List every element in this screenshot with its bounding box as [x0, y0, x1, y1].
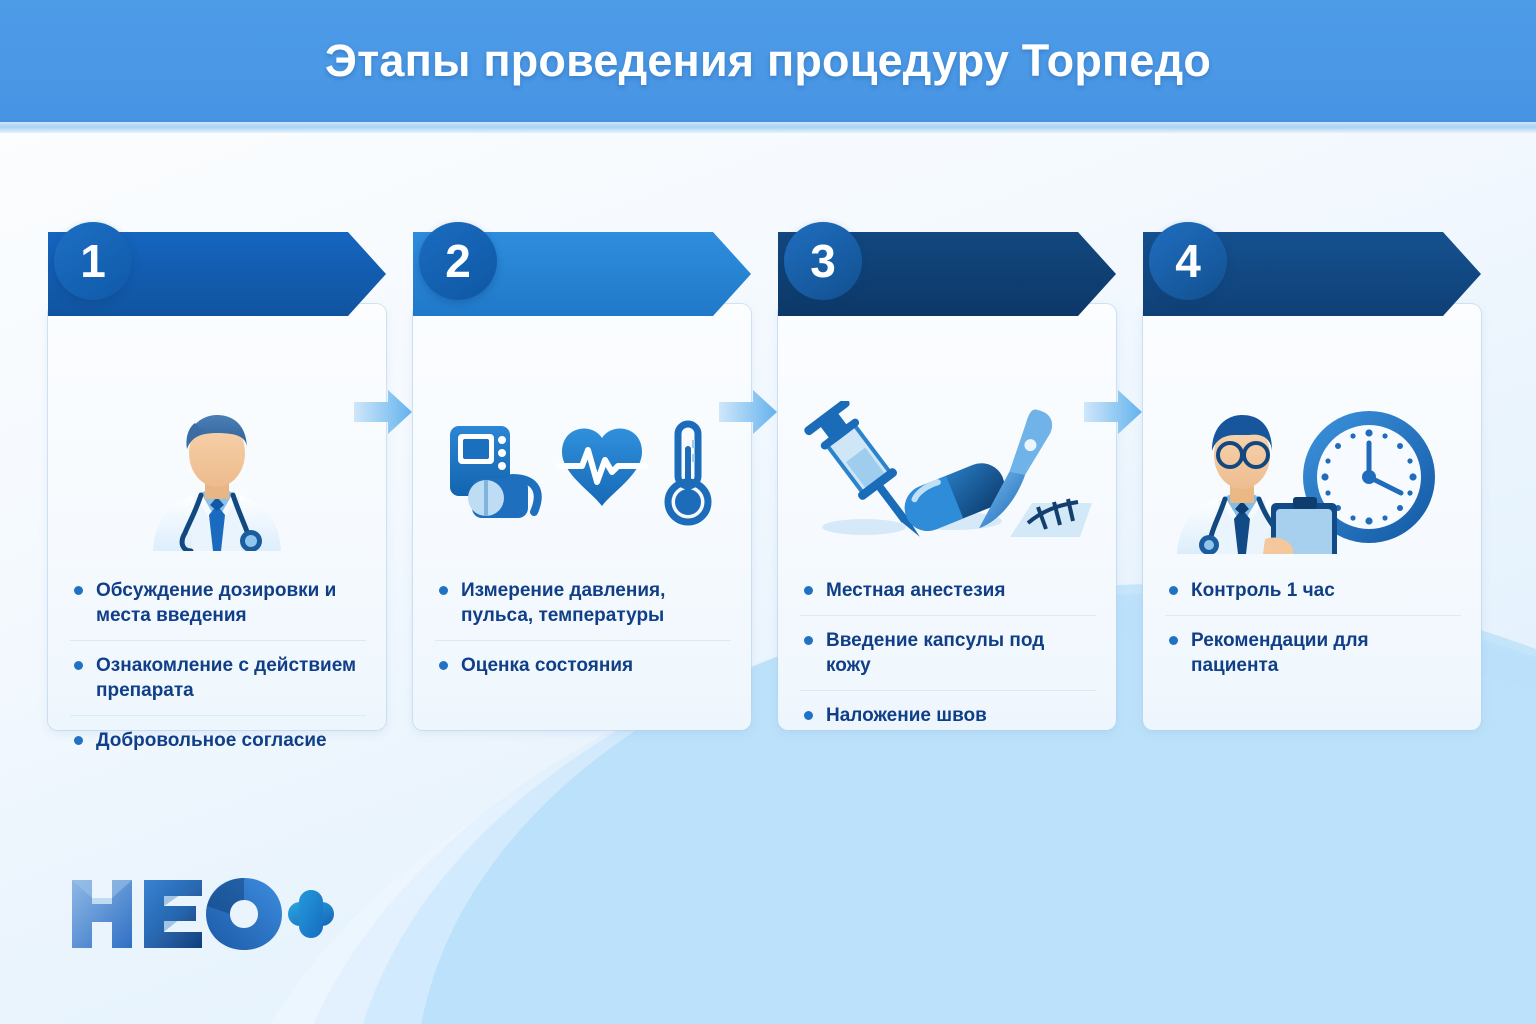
bullet-text: Местная анестезия: [826, 580, 1005, 601]
step-card-body: Местная анестезия Введение капсулы под к…: [778, 304, 1116, 730]
infographic-canvas: Этапы проведения процедуру Торпедо: [0, 0, 1536, 1024]
list-item: Контроль 1 час: [1165, 566, 1461, 615]
bullet-dot-icon: [74, 586, 83, 595]
step-bullet-list: Местная анестезия Введение капсулы под к…: [800, 566, 1096, 740]
step-number-badge: 4: [1149, 222, 1227, 300]
arrow-right-icon: [717, 386, 779, 438]
bullet-text: Наложение швов: [826, 705, 987, 726]
brand-logo[interactable]: [66, 868, 336, 956]
step-bullet-list: Обсуждение дозировки и места введения Оз…: [70, 566, 366, 765]
step-card-body: Измерение давления, пульса, температуры …: [413, 304, 751, 730]
list-item: Рекомендации для пациента: [1165, 615, 1461, 690]
page-header: Этапы проведения процедуру Торпедо: [0, 0, 1536, 122]
list-item: Измерение давления, пульса, температуры: [435, 566, 731, 640]
list-item: Обсуждение дозировки и места введения: [70, 566, 366, 640]
steps-row: Обсуждение дозировки и места введения Оз…: [0, 232, 1536, 752]
arrow-step1-to-step2: [352, 386, 414, 438]
syringe-capsule-scalpel-icon: [802, 401, 1092, 551]
step-number-badge: 2: [419, 222, 497, 300]
step-number-badge: 3: [784, 222, 862, 300]
bullet-dot-icon: [439, 586, 448, 595]
list-item: Оценка состояния: [435, 640, 731, 690]
step-bullet-list: Контроль 1 час Рекомендации для пациента: [1165, 566, 1461, 690]
step-icon-zone: [1143, 392, 1481, 560]
arrow-step2-to-step3: [717, 386, 779, 438]
bullet-text: Оценка состояния: [461, 655, 633, 676]
step-card-body: Контроль 1 час Рекомендации для пациента: [1143, 304, 1481, 730]
bullet-dot-icon: [1169, 586, 1178, 595]
doctor-stethoscope-icon: [117, 401, 317, 551]
arrow-right-icon: [1082, 386, 1144, 438]
list-item: Наложение швов: [800, 690, 1096, 740]
bullet-dot-icon: [804, 636, 813, 645]
step-number-badge: 1: [54, 222, 132, 300]
bullet-text: Рекомендации для пациента: [1191, 630, 1369, 676]
list-item: Ознакомление с действием препарата: [70, 640, 366, 715]
bullet-dot-icon: [804, 586, 813, 595]
blood-pressure-heart-thermometer-icon: [442, 416, 722, 536]
step-icon-zone: [48, 392, 386, 560]
step-bullet-list: Измерение давления, пульса, температуры …: [435, 566, 731, 690]
step-card-body: Обсуждение дозировки и места введения Оз…: [48, 304, 386, 730]
bullet-text: Введение капсулы под кожу: [826, 630, 1044, 676]
page-title: Этапы проведения процедуру Торпедо: [325, 35, 1211, 87]
step-icon-zone: [778, 392, 1116, 560]
bullet-dot-icon: [74, 661, 83, 670]
bullet-dot-icon: [74, 736, 83, 745]
bullet-text: Добровольное согласие: [96, 730, 327, 751]
header-divider: [0, 122, 1536, 133]
bullet-dot-icon: [804, 711, 813, 720]
arrow-step3-to-step4: [1082, 386, 1144, 438]
bullet-text: Ознакомление с действием препарата: [96, 655, 356, 701]
arrow-right-icon: [352, 386, 414, 438]
list-item: Введение капсулы под кожу: [800, 615, 1096, 690]
bullet-text: Обсуждение дозировки и места введения: [96, 580, 336, 626]
neo-plus-logo: [66, 868, 336, 956]
bullet-text: Измерение давления, пульса, температуры: [461, 580, 665, 626]
list-item: Добровольное согласие: [70, 715, 366, 765]
bullet-dot-icon: [1169, 636, 1178, 645]
list-item: Местная анестезия: [800, 566, 1096, 615]
bullet-text: Контроль 1 час: [1191, 580, 1335, 601]
step-icon-zone: [413, 392, 751, 560]
doctor-clipboard-clock-icon: [1167, 399, 1457, 554]
bullet-dot-icon: [439, 661, 448, 670]
